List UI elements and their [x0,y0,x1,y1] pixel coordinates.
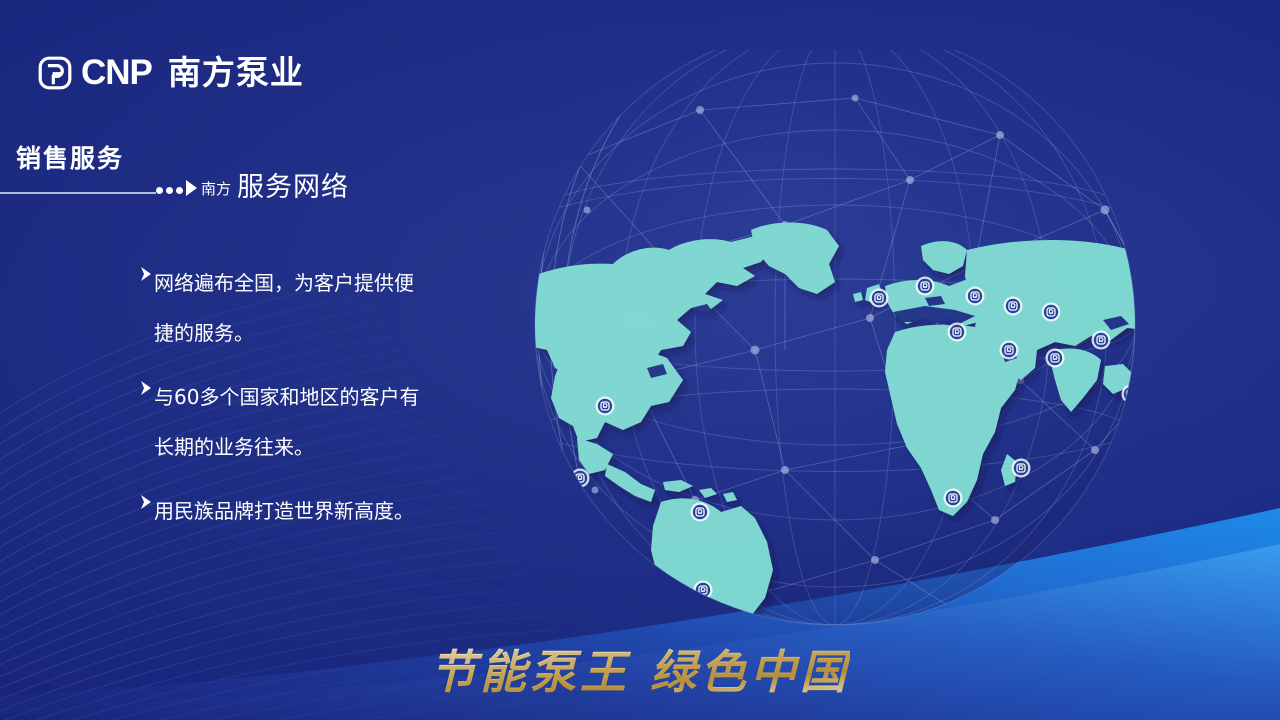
brand-logo[interactable]: CNP 南方泵业 [38,55,304,90]
subtitle-prefix: 南方 [201,182,231,197]
subtitle-main: 服务网络 [237,174,349,201]
cnp-logo-mark-icon [38,56,72,90]
bullet-text: 用民族品牌打造世界新高度。 [154,486,414,536]
list-item: 用民族品牌打造世界新高度。 [138,486,468,536]
three-dots-icon [156,187,183,194]
chevron-right-bullet-icon [138,259,154,289]
list-item: 与60多个国家和地区的客户有 长期的业务往来。 [138,372,468,472]
bullet-text: 网络遍布全国，为客户提供便 捷的服务。 [154,258,414,358]
logo-chinese-text: 南方泵业 [168,56,304,89]
triangle-right-icon [186,180,197,196]
chevron-right-bullet-icon [138,373,154,403]
logo-latin-text: CNP [81,55,152,90]
slogan-text: 节能泵王 绿色中国 [430,636,850,702]
bullet-text: 与60多个国家和地区的客户有 长期的业务往来。 [154,372,419,472]
title-divider-line [0,192,156,194]
bullet-list: 网络遍布全国，为客户提供便 捷的服务。 与60多个国家和地区的客户有 长期的业务… [138,258,468,550]
chevron-right-bullet-icon [138,487,154,517]
list-item: 网络遍布全国，为客户提供便 捷的服务。 [138,258,468,358]
subtitle-row: 南方 服务网络 [156,174,349,201]
footer-slogan: 节能泵王 绿色中国 [0,636,1280,702]
page-title: 销售服务 [16,139,124,175]
slide-root: CNP 南方泵业 销售服务 南方 服务网络 网络遍布全国，为客户提供便 捷的服务… [0,0,1280,720]
